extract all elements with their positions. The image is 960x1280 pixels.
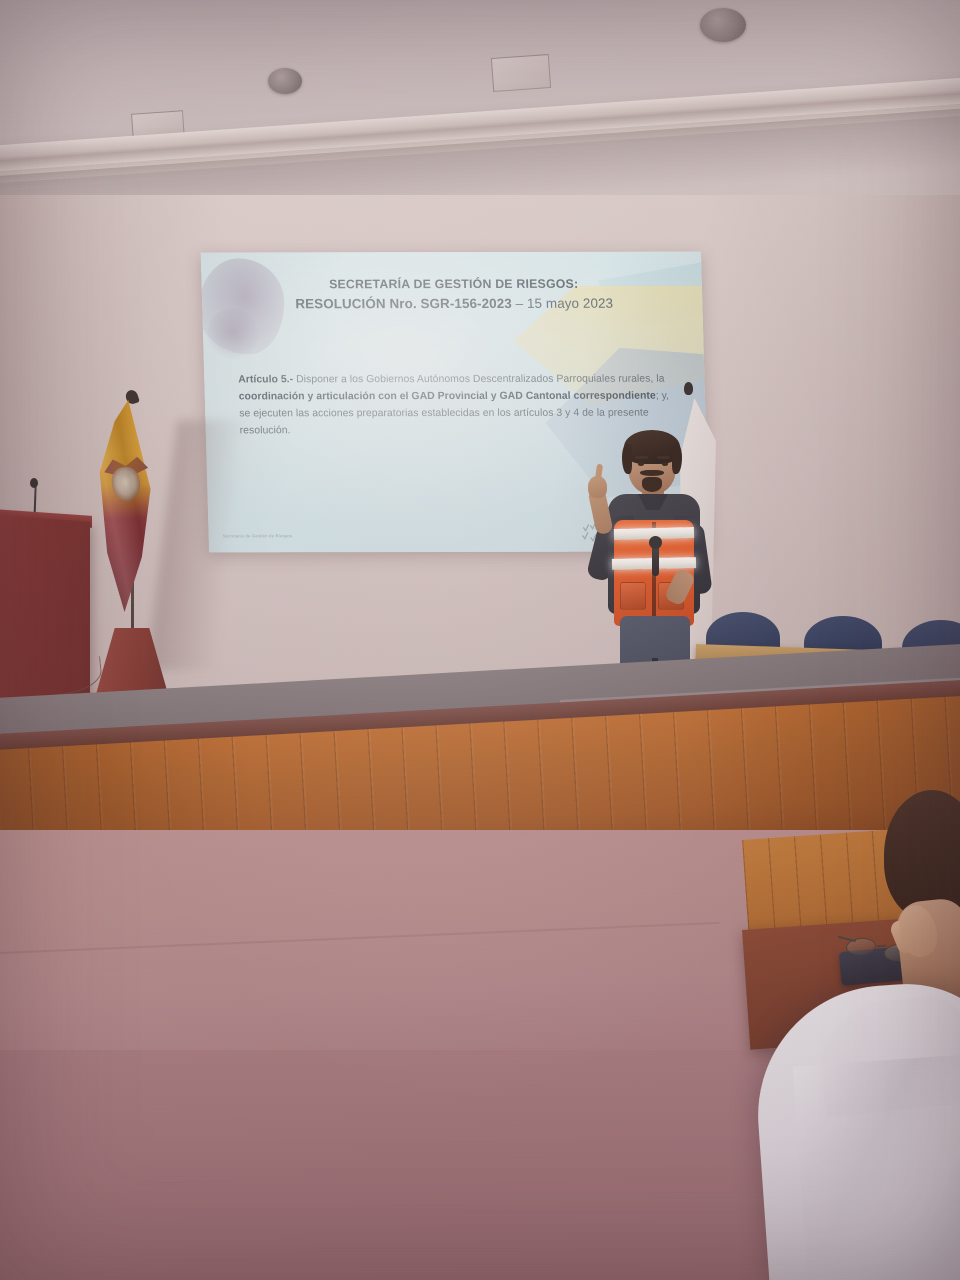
slide-decor-blob-top-left-small (206, 308, 259, 360)
slide-title-line-2: RESOLUCIÓN Nro. SGR-156-2023 – 15 mayo 2… (228, 294, 681, 314)
slide-body-emphasis: coordinación y articulación con el GAD P… (239, 390, 656, 402)
presenter-mustache (640, 470, 664, 476)
presenter-hair-side (622, 444, 632, 474)
microphone-head-icon (30, 478, 38, 488)
presenter-hair-side (672, 444, 682, 474)
slide-body-part-1: Disponer a los Gobiernos Autónomos Desce… (293, 374, 665, 386)
ceiling-downlight (700, 8, 746, 42)
attendee-shirt-folds (793, 1054, 960, 1280)
presenter-eye (662, 462, 668, 466)
slide-article-label: Artículo 5.- (238, 374, 293, 385)
presenter-eyebrow (635, 456, 648, 459)
presenter-eye (638, 462, 644, 466)
photo-scene: SECRETARÍA DE GESTIÓN DE RIESGOS: RESOLU… (0, 0, 960, 1280)
microphone-capsule-icon (649, 536, 662, 549)
slide-resolution-date: – 15 mayo 2023 (512, 296, 614, 311)
ceiling-vent (491, 54, 551, 92)
slide-title: SECRETARÍA DE GESTIÓN DE RIESGOS: RESOLU… (227, 276, 680, 314)
slide-title-line-1: SECRETARÍA DE GESTIÓN DE RIESGOS: (227, 276, 680, 295)
vest-pocket (620, 582, 646, 610)
presenter-eyebrow (657, 456, 670, 459)
ceiling-downlight (268, 68, 302, 94)
slide-resolution-number: RESOLUCIÓN Nro. SGR-156-2023 (295, 296, 512, 311)
presenter-goatee (642, 477, 662, 492)
banner-hook (684, 382, 693, 395)
